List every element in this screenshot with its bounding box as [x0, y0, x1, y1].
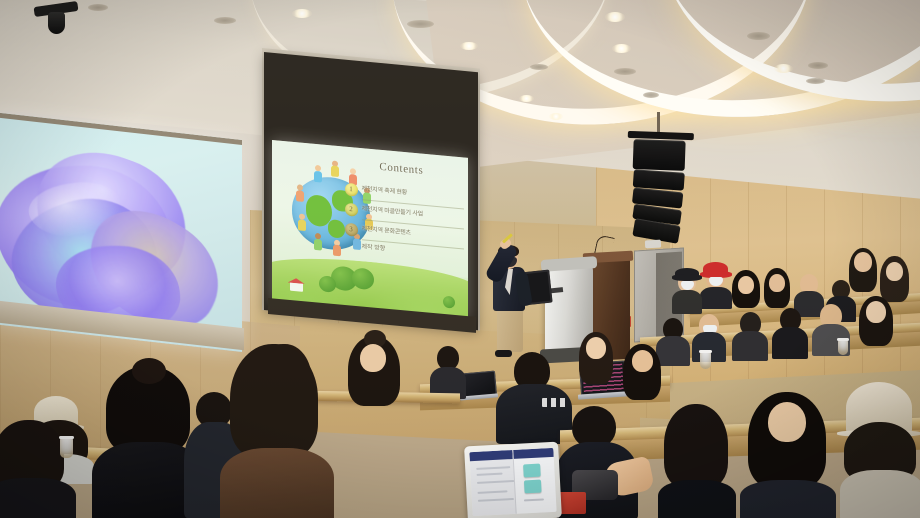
- downlight: [549, 113, 563, 120]
- tablet-display[interactable]: [469, 448, 556, 516]
- slide-house: [290, 282, 303, 292]
- slide-child-figure: [333, 239, 342, 257]
- slide-toc: 1 제천지역 축제 현황 2 제천지역 마을만들기 사업 3 제천지역 문화콘텐…: [345, 182, 463, 259]
- audience-member: [856, 296, 896, 352]
- downlight: [774, 64, 793, 73]
- slide-toc-label: 제천지역 마을만들기 사업: [362, 207, 423, 220]
- audience-member-red-cap: [700, 262, 732, 308]
- ceiling-speaker-grille: [88, 4, 108, 11]
- downlight: [460, 42, 478, 50]
- slide-toc-badge: 2: [345, 202, 358, 216]
- presentation-slide: Contents 1 제천지역 축제 현황 2 제천지역 마을만들기 사업 3 …: [272, 140, 468, 320]
- ceiling-speaker-grille: [214, 17, 236, 24]
- ceiling-speaker-grille: [808, 62, 828, 69]
- ceiling-speaker-grille: [747, 32, 770, 40]
- slide-child-figure: [313, 165, 322, 183]
- audience-member: [730, 270, 762, 314]
- presenter-trousers: [497, 308, 523, 352]
- audience-member: [0, 420, 68, 518]
- student-tablet[interactable]: [464, 442, 562, 518]
- slide-child-figure: [331, 160, 340, 178]
- audience-member: [744, 392, 832, 518]
- ceiling-speaker-grille: [530, 64, 548, 70]
- audience-member: [732, 310, 768, 360]
- slide-toc-label: 제천지역 문화콘텐츠: [362, 227, 411, 239]
- drink-cup: [60, 438, 73, 458]
- slide-toc-badge: 1: [345, 182, 358, 196]
- hair-bun: [132, 358, 166, 384]
- tablet-card[interactable]: [523, 464, 541, 478]
- audience-member: [576, 332, 616, 390]
- center-projection-screen: Contents 1 제천지역 축제 현황 2 제천지역 마을만들기 사업 3 …: [272, 140, 468, 320]
- audience-member: [672, 268, 702, 312]
- drink-cup: [700, 352, 711, 369]
- downlight: [292, 9, 312, 18]
- audience-member: [772, 306, 808, 358]
- ceiling-speaker-grille: [806, 78, 825, 84]
- line-array-speaker: [628, 131, 690, 245]
- ceiling-speaker-grille: [643, 92, 659, 98]
- ceiling-speaker-grille: [614, 68, 636, 75]
- drink-cup: [838, 340, 848, 355]
- tablet-card[interactable]: [524, 480, 542, 494]
- lecture-hall-photo: Contents 1 제천지역 축제 현황 2 제천지역 마을만들기 사업 3 …: [0, 0, 920, 518]
- tablet-app-header: [513, 448, 553, 459]
- audience-member-beige-cap: [842, 382, 920, 518]
- downlight: [605, 12, 625, 22]
- tablet-pane-left[interactable]: [469, 450, 515, 516]
- audience-member: [226, 344, 322, 518]
- audience-member: [430, 346, 466, 398]
- ceiling-speaker-grille: [407, 20, 434, 28]
- audience-member: [344, 336, 404, 414]
- audience-member: [100, 366, 196, 518]
- slide-toc-label: 제천지역 축제 현황: [362, 187, 408, 199]
- audience-member: [620, 344, 664, 406]
- slide-toc-badge: 3: [345, 222, 358, 236]
- slide-child-figure: [297, 214, 306, 232]
- slide-child-figure: [296, 184, 305, 202]
- downlight: [519, 95, 534, 102]
- audience-member: [660, 404, 732, 518]
- tablet-app-header: [469, 450, 513, 461]
- security-camera-icon: [48, 12, 65, 34]
- tablet-pane-right[interactable]: [512, 448, 556, 514]
- av-cabinet-device: [645, 240, 661, 249]
- presenter: [481, 240, 539, 358]
- slide-child-figure: [313, 233, 322, 251]
- downlight: [612, 44, 631, 53]
